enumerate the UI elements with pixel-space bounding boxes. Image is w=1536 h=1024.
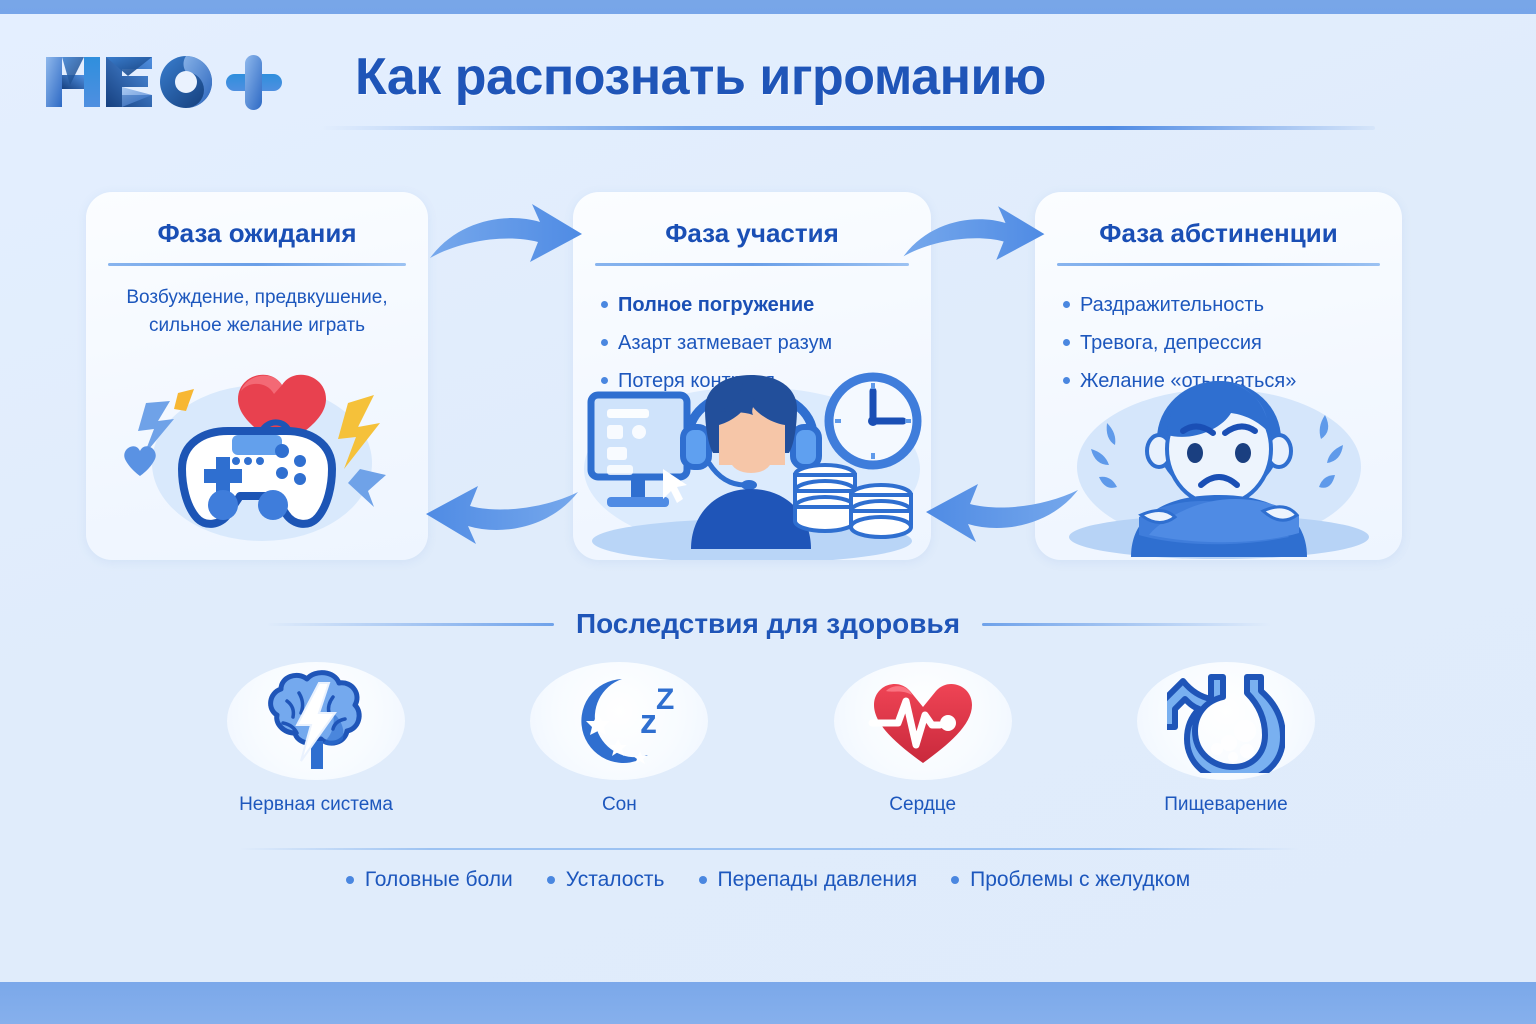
svg-text:Z: Z: [656, 683, 674, 716]
health-item-nervous-system[interactable]: Нервная система: [216, 662, 416, 816]
brand-logo: [40, 45, 290, 117]
list-item: Азарт затмевает разум: [601, 324, 931, 362]
gamepad-hearts-illustration: [86, 365, 428, 560]
page-title: Как распознать игроманию: [355, 47, 1155, 107]
list-item: Перепады давления: [699, 868, 918, 892]
bullet-dot-icon: [699, 876, 707, 884]
list-item: Раздражительность: [1063, 286, 1402, 324]
section-title: Последствия для здоровья: [576, 608, 960, 640]
divider-left: [266, 623, 554, 626]
sad-person-illustration: [1035, 365, 1402, 560]
bullet-dot-icon: [1063, 301, 1070, 308]
stomach-icon: [1167, 669, 1285, 773]
health-icons-row: Нервная система z Z Сон: [216, 662, 1326, 816]
health-item-digestion[interactable]: Пищеварение: [1126, 662, 1326, 816]
footer-divider: [240, 848, 1300, 850]
health-item-heart[interactable]: Сердце: [823, 662, 1023, 816]
arrow-right-icon: [424, 196, 588, 279]
bullet-dot-icon: [1063, 339, 1070, 346]
bottom-accent-band: [0, 982, 1536, 1024]
bullet-dot-icon: [547, 876, 555, 884]
brain-lightning-icon: [257, 669, 375, 773]
top-accent-band: [0, 0, 1536, 14]
phase-title: Фаза абстиненции: [1035, 192, 1402, 249]
icon-container: [227, 662, 405, 780]
phase-title: Фаза ожидания: [86, 192, 428, 249]
list-item: Усталость: [547, 868, 665, 892]
health-section-header: Последствия для здоровья: [0, 608, 1536, 640]
list-item: Полное погружение: [601, 286, 931, 324]
moon-zzz-icon: z Z: [560, 669, 678, 773]
svg-text:z: z: [640, 703, 657, 741]
icon-container: [1137, 662, 1315, 780]
phase-card-anticipation[interactable]: Фаза ожидания Возбуждение, предвкушение,…: [86, 192, 428, 560]
divider-right: [982, 623, 1270, 626]
phase-description: Возбуждение, предвкушение, сильное желан…: [86, 266, 428, 339]
health-item-sleep[interactable]: z Z Сон: [519, 662, 719, 816]
title-underline: [320, 126, 1375, 130]
health-item-label: Нервная система: [216, 794, 416, 816]
heart-pulse-icon: [864, 669, 982, 773]
list-item: Проблемы с желудком: [951, 868, 1190, 892]
arrow-right-icon: [898, 196, 1050, 279]
health-item-label: Пищеварение: [1126, 794, 1326, 816]
phase-card-participation[interactable]: Фаза участия Полное погружение Азарт зат…: [573, 192, 931, 560]
arrow-left-icon: [920, 472, 1084, 553]
infographic-page: Как распознать игроманию Фаза ожидания В…: [0, 0, 1536, 1024]
symptoms-list: Головные боли Усталость Перепады давлени…: [0, 868, 1536, 892]
bullet-dot-icon: [951, 876, 959, 884]
health-item-label: Сон: [519, 794, 719, 816]
bullet-dot-icon: [346, 876, 354, 884]
health-item-label: Сердце: [823, 794, 1023, 816]
phase-title: Фаза участия: [573, 192, 931, 249]
bullet-dot-icon: [601, 301, 608, 308]
phase-card-withdrawal[interactable]: Фаза абстиненции Раздражительность Трево…: [1035, 192, 1402, 560]
gamer-monitor-clock-coins-illustration: [573, 365, 931, 560]
icon-container: z Z: [530, 662, 708, 780]
arrow-left-icon: [412, 474, 592, 555]
list-item: Тревога, депрессия: [1063, 324, 1402, 362]
list-item: Головные боли: [346, 868, 513, 892]
bullet-dot-icon: [601, 339, 608, 346]
icon-container: [834, 662, 1012, 780]
